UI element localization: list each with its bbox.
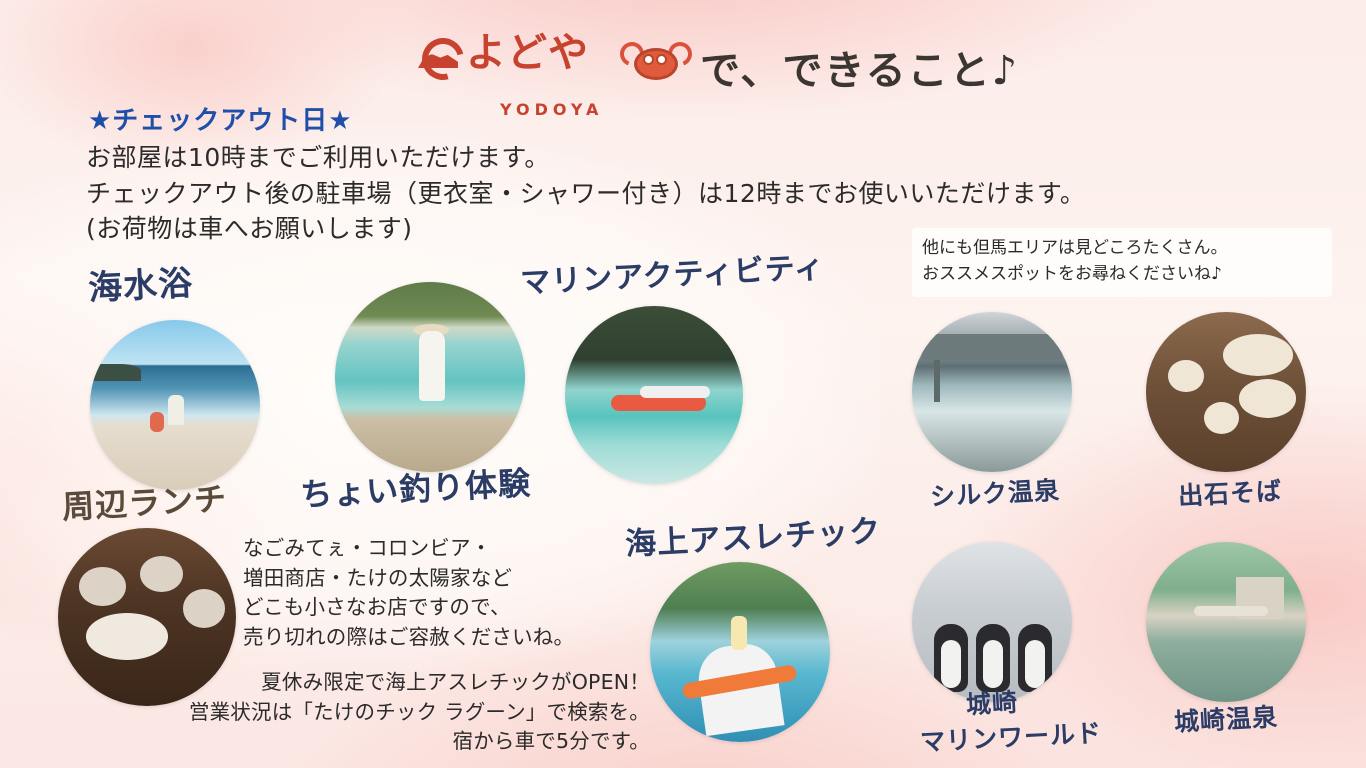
- page-title: で、できること♪: [700, 38, 1019, 96]
- photo-marine: [565, 306, 743, 484]
- photo-kinosaki: [1146, 542, 1306, 702]
- body-line-1: お部屋は10時までご利用いただけます。: [86, 140, 1186, 176]
- caption-marineworld-line1: 城崎: [965, 683, 1019, 722]
- lunch-note-3: どこも小さなお店ですので、: [243, 593, 643, 623]
- tajima-note-card: 他にも但馬エリアは見どころたくさん。 おススメスポットをお尋ねくださいね♪: [912, 228, 1332, 297]
- lunch-note-1: なごみてぇ・コロンビア・: [243, 534, 643, 564]
- wave-swirl-icon: [420, 30, 460, 76]
- lunch-note-2: 増田商店・たけの太陽家など: [243, 564, 643, 594]
- photo-kaisuiyoku: [90, 320, 260, 490]
- caption-tsuri: ちょい釣り体験: [299, 458, 532, 516]
- caption-kaisuiyoku: 海水浴: [87, 255, 194, 309]
- body-line-2: チェックアウト後の駐車場（更衣室・シャワー付き）は12時までお使いいただけます。: [86, 176, 1186, 212]
- caption-izushisoba: 出石そば: [1177, 471, 1283, 512]
- caption-lunch: 周辺ランチ: [61, 474, 228, 529]
- photo-shiruku: [912, 312, 1072, 472]
- athletic-note-3: 宿から車で5分です。: [170, 727, 650, 757]
- lunch-note: なごみてぇ・コロンビア・ 増田商店・たけの太陽家など どこも小さなお店ですので、…: [243, 534, 643, 653]
- logo-text: よどや: [466, 33, 589, 73]
- lunch-note-4: 売り切れの際はご容赦くださいね。: [243, 623, 643, 653]
- athletic-note-2: 営業状況は「たけのチック ラグーン」で検索を。: [170, 698, 650, 728]
- photo-athletic: [650, 562, 830, 742]
- section-heading: ★チェックアウト日★: [88, 100, 353, 137]
- crab-icon: [620, 36, 686, 84]
- athletic-note-1: 夏休み限定で海上アスレチックがOPEN！: [170, 668, 650, 698]
- athletic-note: 夏休み限定で海上アスレチックがOPEN！ 営業状況は「たけのチック ラグーン」で…: [170, 668, 650, 757]
- poster-header: よどや YODOYA で、できること♪: [0, 14, 1366, 104]
- caption-marine: マリンアクティビティ: [519, 242, 826, 302]
- yodoya-logo: よどや: [420, 30, 589, 76]
- logo-romaji: YODOYA: [500, 100, 603, 119]
- caption-kinosaki: 城崎温泉: [1173, 697, 1279, 738]
- photo-izushisoba: [1146, 312, 1306, 472]
- caption-athletic: 海上アスレチック: [624, 505, 882, 563]
- caption-marineworld-line2: マリンワールド: [919, 713, 1103, 758]
- photo-marineworld: [912, 542, 1072, 702]
- note-line-1: 他にも但馬エリアは見どころたくさん。: [922, 236, 1322, 262]
- caption-shiruku: シルク温泉: [929, 471, 1061, 514]
- poster-page: よどや YODOYA で、できること♪ ★チェックアウト日★ お部屋は10時まで…: [0, 0, 1366, 768]
- photo-tsuri: [335, 282, 525, 472]
- note-line-2: おススメスポットをお尋ねくださいね♪: [922, 262, 1322, 288]
